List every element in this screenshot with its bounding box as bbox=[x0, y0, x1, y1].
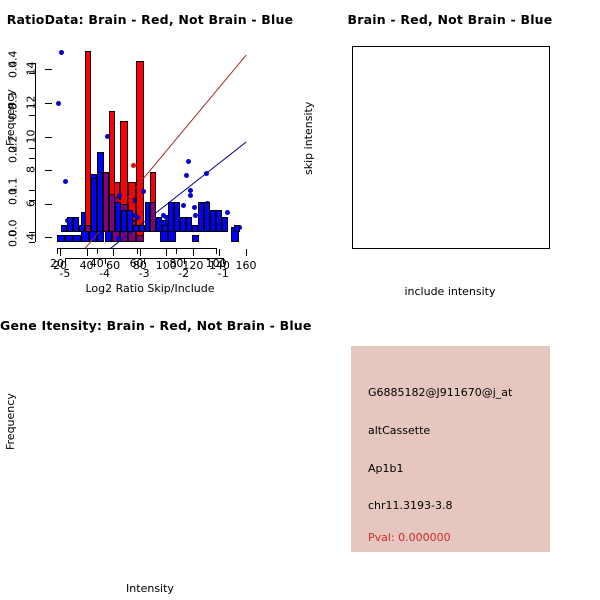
gene-symbol-text: Ap1b1 bbox=[368, 462, 404, 475]
y-axis-line bbox=[35, 63, 36, 232]
y-axis-tick bbox=[45, 137, 52, 138]
x-axis-tick-label: 80 bbox=[156, 257, 196, 270]
scatter-point-not-brain bbox=[59, 50, 64, 55]
intensity-scatter-xlabel: include intensity bbox=[300, 285, 600, 298]
probe-id-text: G6885182@J911670@j_at bbox=[368, 386, 512, 399]
locus-text: chr11.3193-3.8 bbox=[368, 499, 453, 512]
intensity-scatter-title: Brain - Red, Not Brain - Blue bbox=[300, 12, 600, 27]
scatter-point-not-brain bbox=[141, 189, 146, 194]
y-axis-tick-label: 0.1 bbox=[7, 177, 20, 201]
gene-intensity-xlabel: Intensity bbox=[0, 582, 300, 595]
y-axis-tick bbox=[45, 103, 52, 104]
scatter-point-not-brain bbox=[204, 171, 209, 176]
x-axis-tick bbox=[137, 248, 138, 254]
y-axis-tick-label: 0.0 bbox=[7, 220, 20, 244]
intensity-scatter-ylabel: skip intensity bbox=[302, 102, 315, 175]
scatter-point-not-brain bbox=[192, 205, 197, 210]
gene-intensity-histogram-title: Gene Itensity: Brain - Red, Not Brain - … bbox=[0, 318, 300, 333]
y-axis-tick bbox=[29, 148, 35, 149]
gene-intensity-plot-area bbox=[57, 352, 242, 542]
y-axis-tick bbox=[45, 170, 52, 171]
y-axis-tick bbox=[29, 232, 35, 233]
intensity-scatter-panel: Brain - Red, Not Brain - Blue skip inten… bbox=[300, 0, 600, 300]
histogram-bar-blue bbox=[234, 225, 240, 232]
x-axis-tick bbox=[246, 249, 247, 256]
x-axis-tick bbox=[219, 249, 220, 256]
event-type-text: altCassette bbox=[368, 424, 430, 437]
y-axis-tick bbox=[45, 204, 52, 205]
y-axis-tick bbox=[45, 237, 52, 238]
y-axis-tick bbox=[45, 69, 52, 70]
x-axis-tick bbox=[87, 249, 88, 256]
scatter-point-not-brain bbox=[135, 215, 140, 220]
gene-intensity-histogram-panel: Gene Itensity: Brain - Red, Not Brain - … bbox=[0, 310, 300, 600]
pvalue-text: Pval: 0.000000 bbox=[368, 531, 451, 544]
y-axis-tick bbox=[29, 190, 35, 191]
y-axis-tick bbox=[29, 63, 35, 64]
scatter-point-not-brain bbox=[63, 179, 68, 184]
histogram-bar-blue bbox=[222, 217, 228, 232]
x-axis-tick-label: 100 bbox=[196, 257, 236, 270]
x-axis-tick bbox=[140, 249, 141, 256]
scatter-point-not-brain bbox=[186, 159, 191, 164]
x-axis-tick bbox=[57, 248, 58, 254]
x-axis-tick bbox=[176, 248, 177, 254]
y-axis-tick-label: 0.2 bbox=[7, 135, 20, 159]
x-axis-tick bbox=[216, 248, 217, 254]
scatter-point-not-brain bbox=[225, 210, 230, 215]
scatter-point-not-brain bbox=[181, 203, 186, 208]
y-axis-tick-label: 0.3 bbox=[7, 93, 20, 117]
x-axis-tick bbox=[113, 249, 114, 256]
ratio-histogram-xlabel: Log2 Ratio Skip/Include bbox=[0, 282, 300, 295]
y-axis-tick bbox=[29, 105, 35, 106]
scatter-point-not-brain bbox=[188, 193, 193, 198]
x-axis-tick bbox=[97, 248, 98, 254]
x-axis-tick bbox=[166, 249, 167, 256]
x-axis-tick bbox=[60, 249, 61, 256]
gene-info-panel: G6885182@J911670@j_at altCassette Ap1b1 … bbox=[351, 346, 550, 552]
intensity-scatter-plot-area bbox=[352, 46, 550, 249]
gene-intensity-ylabel: Frequency bbox=[4, 393, 17, 450]
scatter-point-brain bbox=[131, 163, 136, 168]
scatter-point-not-brain bbox=[184, 173, 189, 178]
scatter-point-not-brain bbox=[56, 101, 61, 106]
ratio-histogram-title: RatioData: Brain - Red, Not Brain - Blue bbox=[0, 12, 300, 27]
figure-canvas: RatioData: Brain - Red, Not Brain - Blue… bbox=[0, 0, 600, 600]
y-axis-tick-label: 0.4 bbox=[7, 51, 20, 75]
x-axis-tick-label: 40 bbox=[77, 257, 117, 270]
x-axis-tick-label: 60 bbox=[117, 257, 157, 270]
scatter-point-brain bbox=[128, 198, 133, 203]
x-axis-tick-label: 20 bbox=[37, 257, 77, 270]
scatter-point-not-brain bbox=[117, 193, 122, 198]
x-axis-tick bbox=[193, 249, 194, 256]
